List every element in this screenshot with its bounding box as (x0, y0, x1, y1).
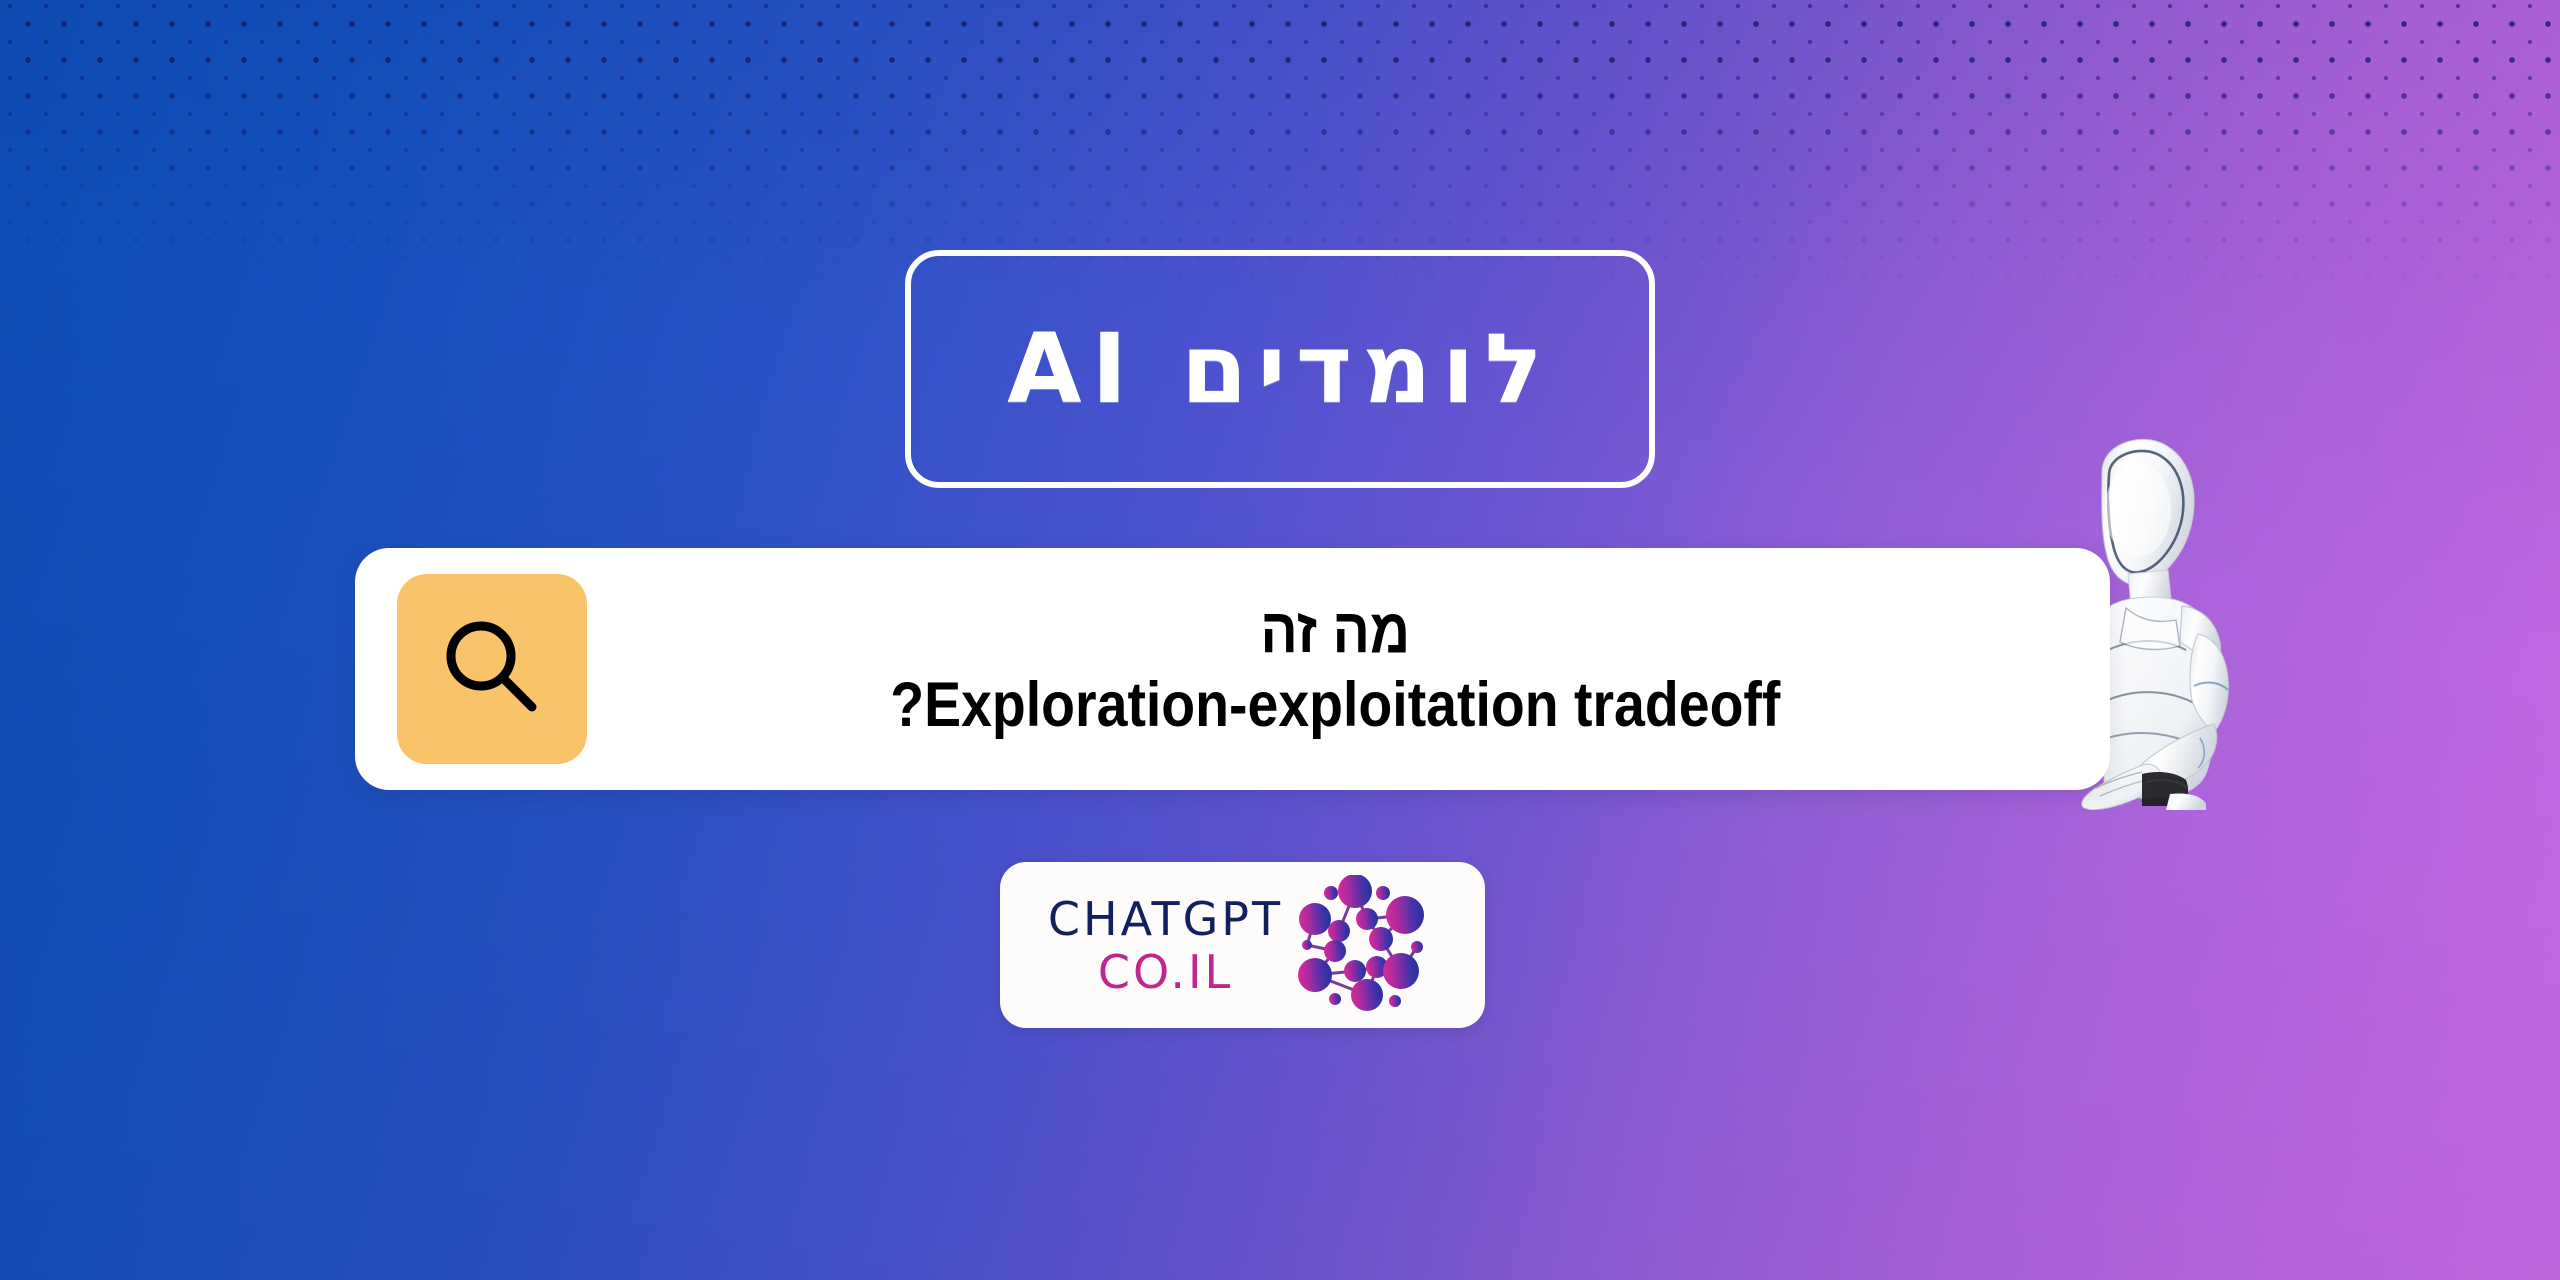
network-nodes-graphic (1289, 875, 1449, 1015)
search-icon (433, 610, 551, 728)
search-query-text[interactable]: מה זה ?Exploration-exploitation tradeoff (678, 595, 2018, 742)
chatgpt-wordmark-bottom: CO.IL (1098, 949, 1233, 995)
promo-banner: לומדים AI (0, 0, 2560, 1280)
search-bar[interactable]: מה זה ?Exploration-exploitation tradeoff (355, 548, 2110, 790)
brand-plate: לומדים AI (905, 250, 1655, 488)
chatgpt-wordmark-top: CHATGPT (1048, 896, 1283, 942)
search-query-line-2: ?Exploration-exploitation tradeoff (687, 669, 1983, 743)
search-icon-button[interactable] (397, 574, 587, 764)
brand-title: לומדים AI (1007, 321, 1552, 417)
search-query-line-1: מה זה (687, 595, 1983, 669)
chatgpt-wordmark: CHATGPT CO.IL (1032, 896, 1283, 995)
chatgpt-coil-badge[interactable]: CHATGPT CO.IL (1000, 862, 1485, 1028)
